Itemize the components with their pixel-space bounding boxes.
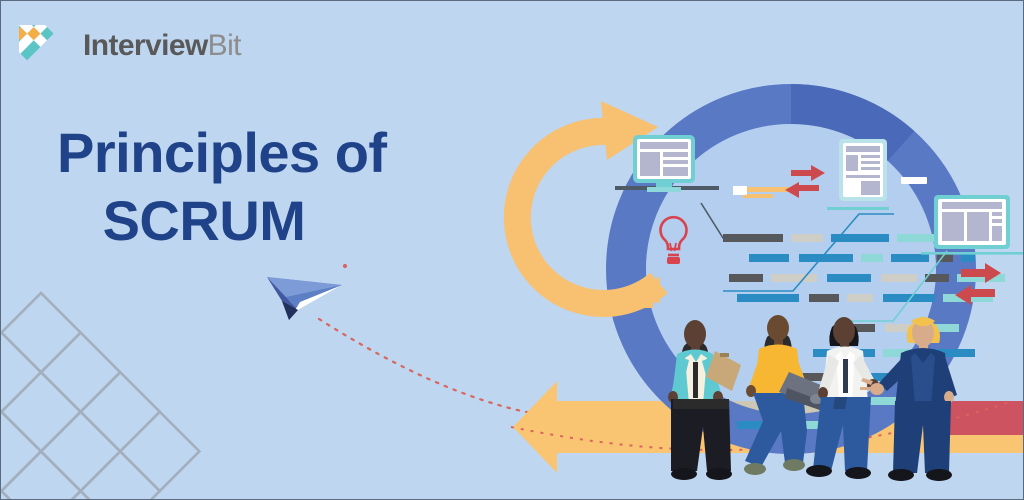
- interviewbit-diamond-logo-icon: [19, 25, 75, 67]
- title-line-2: SCRUM: [57, 187, 427, 255]
- trail-dot: [343, 264, 347, 268]
- page-title: Principles of SCRUM: [57, 119, 427, 256]
- banner-root: InterviewBit Principles of SCRUM: [0, 0, 1024, 500]
- monitor-icon-right: [921, 195, 1024, 255]
- lightbulb-base: [667, 257, 680, 264]
- brand-wordmark: InterviewBit: [83, 31, 241, 61]
- brand-name-secondary: Bit: [208, 29, 241, 62]
- ring-tick-white: [901, 177, 927, 184]
- title-line-1: Principles of: [57, 119, 427, 187]
- brand-name-primary: Interview: [83, 29, 208, 62]
- brand-logo[interactable]: InterviewBit: [19, 25, 241, 67]
